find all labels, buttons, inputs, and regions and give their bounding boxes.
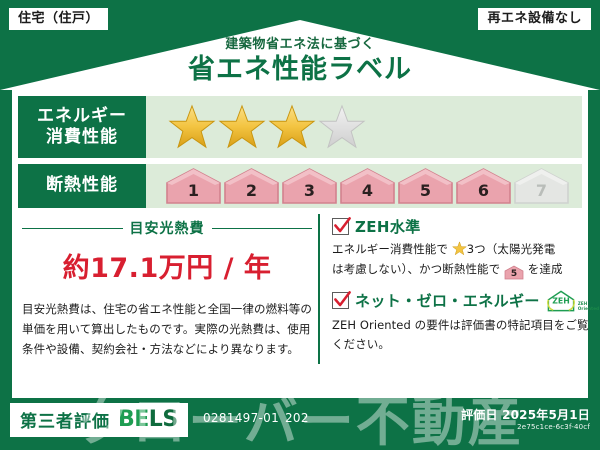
net-zero-energy-body: ZEH Oriented の要件は評価書の特記項目をご覧ください。 xyxy=(332,316,599,355)
zeh-standard-title: ZEH水準 xyxy=(355,216,421,237)
energy-performance-label: エネルギー 消費性能 xyxy=(18,96,146,158)
insulation-level-number: 3 xyxy=(304,181,315,204)
insulation-level-number: 4 xyxy=(362,181,373,204)
badge-renewable-equipment: 再エネ設備なし xyxy=(477,7,592,31)
net-zero-energy-checkbox[interactable] xyxy=(332,292,349,309)
zeh-standard-head: ZEH水準 xyxy=(332,216,599,237)
insulation-performance-label: 断熱性能 xyxy=(18,164,146,208)
title-subtitle: 建築物省エネ法に基づく xyxy=(0,38,600,52)
zeh-logo-caption-line2: Oriented xyxy=(578,306,599,311)
insulation-level-6: 6 xyxy=(456,168,511,204)
insulation-performance-value: 1234567 xyxy=(146,164,582,208)
evaluation-date: 評価日 2025年5月1日 xyxy=(461,406,590,423)
zeh-column: ZEH水準 エネルギー消費性能で 3つ（太陽光発電 は考慮しない）、かつ断熱性能… xyxy=(318,214,600,364)
page-title: 省エネ性能ラベル xyxy=(0,53,600,87)
bels-logo: BELS xyxy=(118,407,178,432)
utility-cost-heading-text: 目安光熱費 xyxy=(130,218,205,238)
energy-performance-label: 住宅（住戸） 再エネ設備なし 建築物省エネ法に基づく 省エネ性能ラベル エネルギ… xyxy=(0,0,600,450)
star-icon-inline xyxy=(452,241,467,256)
label-card: エネルギー 消費性能 xyxy=(12,90,588,398)
net-zero-energy-item: ネット・ゼロ・エネルギー ZEH ZEH Oriented xyxy=(332,289,599,355)
energy-performance-label-line2: 消費性能 xyxy=(46,127,118,148)
zeh-logo: ZEH ZEH Oriented xyxy=(546,289,599,313)
insulation-level-number: 7 xyxy=(536,181,547,204)
insulation-level-badge-inline-text: 5 xyxy=(504,265,524,284)
check-icon xyxy=(333,216,352,235)
insulation-level-7: 7 xyxy=(514,168,569,204)
zeh-standard-body-stars: 3つ（太陽光発電 xyxy=(467,242,556,256)
star-icon-empty-4 xyxy=(318,103,366,151)
zeh-standard-checkbox[interactable] xyxy=(332,218,349,235)
certificate-year: 202 xyxy=(285,411,309,425)
check-icon xyxy=(333,290,352,309)
zeh-house-logo-icon: ZEH xyxy=(546,289,576,313)
zeh-standard-body: エネルギー消費性能で 3つ（太陽光発電 は考慮しない）、かつ断熱性能で 5 を達… xyxy=(332,240,599,280)
utility-cost-amount: 約17.1万円 / 年 xyxy=(22,246,312,285)
energy-performance-label-line1: エネルギー xyxy=(37,106,127,127)
insulation-level-number: 6 xyxy=(478,181,489,204)
utility-cost-column: 目安光熱費 約17.1万円 / 年 目安光熱費は、住宅の省エネ性能と全国一律の燃… xyxy=(18,214,318,364)
zeh-standard-body-part1: エネルギー消費性能で xyxy=(332,242,448,256)
bels-logo-part2: LS xyxy=(149,407,178,432)
insulation-level-5: 5 xyxy=(398,168,453,204)
label-footer: 第三者評価 BELS 0281497-01 202 評価日 2025年5月1日 … xyxy=(0,398,600,450)
certificate-number: 0281497-01 xyxy=(203,411,279,425)
badge-dwelling-type: 住宅（住戸） xyxy=(8,7,109,31)
insulation-level-badge-inline: 5 xyxy=(504,265,524,280)
insulation-level-scale: 1234567 xyxy=(166,168,569,204)
insulation-level-number: 5 xyxy=(420,181,431,204)
star-icon-filled-2 xyxy=(218,103,266,151)
net-zero-energy-title: ネット・ゼロ・エネルギー xyxy=(355,290,540,311)
star-icon-filled-1 xyxy=(168,103,216,151)
utility-cost-note: 目安光熱費は、住宅の省エネ性能と全国一律の燃料等の単価を用いて算出したものです。… xyxy=(22,299,312,359)
insulation-performance-label-text: 断熱性能 xyxy=(46,175,118,196)
insulation-level-3: 3 xyxy=(282,168,337,204)
star-rating xyxy=(168,103,366,151)
third-party-evaluation-label: 第三者評価 xyxy=(20,407,110,432)
net-zero-energy-head: ネット・ゼロ・エネルギー ZEH ZEH Oriented xyxy=(332,289,599,313)
insulation-level-1: 1 xyxy=(166,168,221,204)
insulation-level-number: 2 xyxy=(246,181,257,204)
svg-text:ZEH: ZEH xyxy=(552,296,570,305)
bels-plate: 第三者評価 BELS xyxy=(10,403,188,437)
insulation-level-2: 2 xyxy=(224,168,279,204)
label-lower-section: 目安光熱費 約17.1万円 / 年 目安光熱費は、住宅の省エネ性能と全国一律の燃… xyxy=(18,214,582,364)
insulation-level-number: 1 xyxy=(188,181,199,204)
zeh-standard-item: ZEH水準 エネルギー消費性能で 3つ（太陽光発電 は考慮しない）、かつ断熱性能… xyxy=(332,216,599,280)
insulation-performance-row: 断熱性能 1234567 xyxy=(18,164,582,208)
star-icon-filled-3 xyxy=(268,103,316,151)
insulation-level-4: 4 xyxy=(340,168,395,204)
utility-cost-heading: 目安光熱費 xyxy=(22,218,312,238)
energy-performance-value xyxy=(146,96,582,158)
energy-performance-row: エネルギー 消費性能 xyxy=(18,96,582,158)
zeh-logo-caption: ZEH Oriented xyxy=(578,301,599,313)
evaluation-hash: 2e75c1ce-6c3f-40cf xyxy=(517,423,590,431)
zeh-standard-body-part3: を達成 xyxy=(528,262,563,276)
zeh-standard-body-part2: は考慮しない）、かつ断熱性能で xyxy=(332,262,500,276)
label-title-block: 建築物省エネ法に基づく 省エネ性能ラベル xyxy=(0,38,600,87)
bels-logo-part1: BE xyxy=(118,407,149,432)
